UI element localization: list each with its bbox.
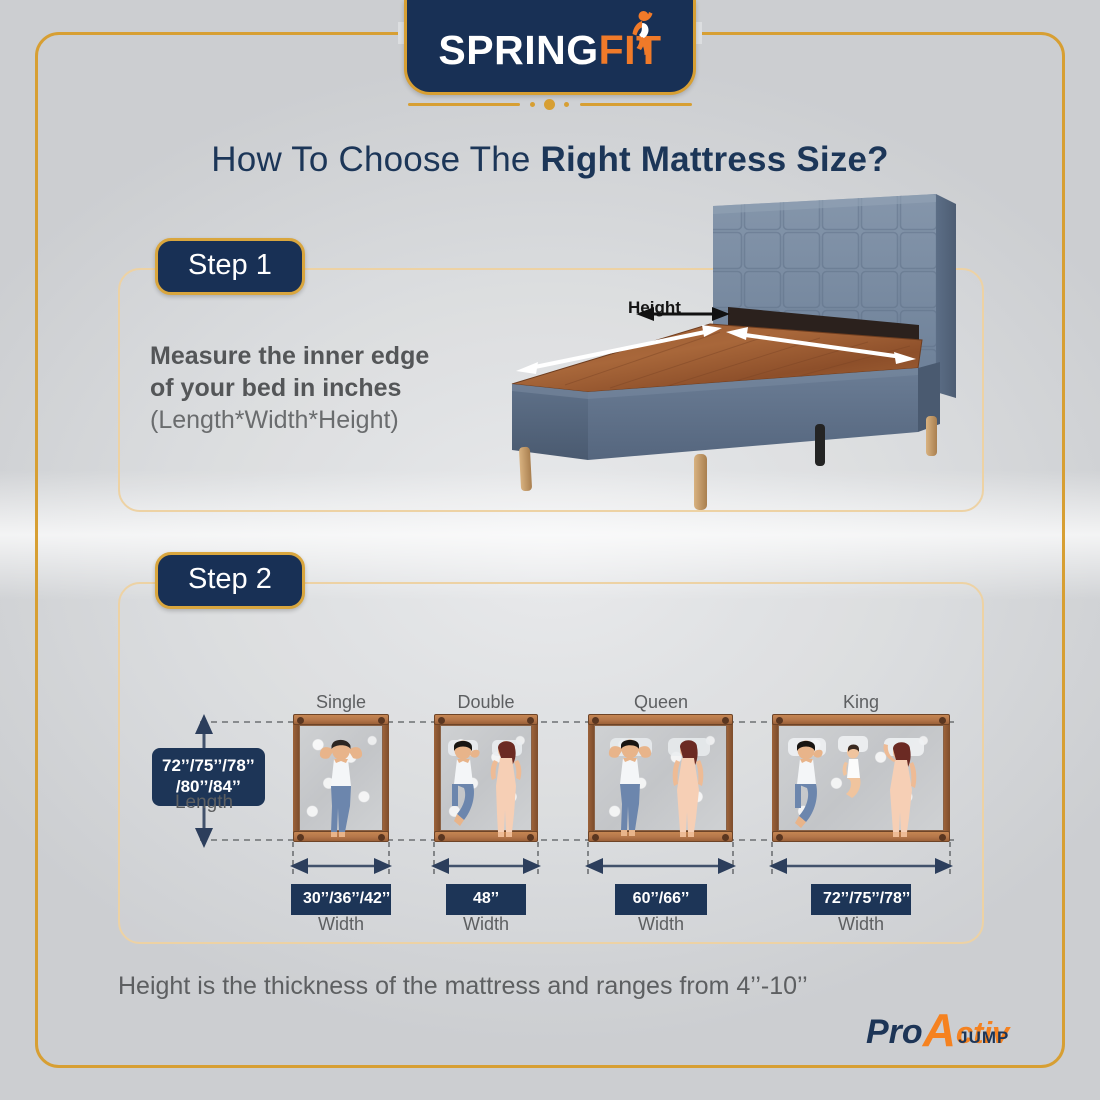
bed-diagram-king (772, 714, 950, 842)
person-man (795, 741, 823, 829)
measure-line-1: Measure the inner edge (150, 340, 480, 372)
bed-diagram-queen (588, 714, 733, 842)
width-caption-single: Width (271, 914, 411, 935)
step-1-instructions: Measure the inner edge of your bed in in… (150, 340, 480, 436)
person-man (609, 740, 651, 837)
bed-diagram-single (293, 714, 389, 842)
height-pointer-arrow (636, 307, 730, 321)
person-baby (843, 745, 861, 799)
measure-line-3: (Length*Width*Height) (150, 404, 480, 436)
width-badge-single: 30’’/36’’/42’’ (291, 884, 391, 915)
width-badge-double: 48’’ (446, 884, 526, 915)
proactiv-sub-brand-logo: ProActiv JUMP (866, 1004, 1009, 1050)
length-caption: Length (152, 792, 256, 814)
logo-spring-text: SPRING (438, 27, 598, 73)
proactiv-jump-text: JUMP (958, 1029, 1009, 1046)
proactiv-pro-text: Pro (866, 1013, 923, 1051)
brand-logo-plaque: SPRINGFIT (404, 0, 696, 95)
logo-decorative-rule (408, 98, 692, 110)
proactiv-a-text: A (923, 1004, 956, 1056)
size-title-double: Double (416, 692, 556, 713)
page-title-emphasis: Right Mattress Size? (540, 140, 888, 179)
bed-diagram-double (434, 714, 538, 842)
page-title-normal: How To Choose The (211, 140, 540, 179)
sleeper-figures-queen (588, 714, 733, 842)
step-2-badge: Step 2 (155, 552, 305, 609)
width-badge-king: 72’’/75’’/78’’ (811, 884, 911, 915)
sleeper-figures-double (434, 714, 538, 842)
size-title-queen: Queen (591, 692, 731, 713)
sleeper-figures-single (293, 714, 389, 842)
width-caption-double: Width (416, 914, 556, 935)
person-man (320, 740, 362, 837)
length-badge-line-1: 72’’/75’’/78’’ (162, 755, 255, 776)
step-1-badge: Step 1 (155, 238, 305, 295)
bed-illustration (470, 192, 990, 532)
size-title-single: Single (271, 692, 411, 713)
width-badge-queen: 60’’/66’’ (615, 884, 707, 915)
width-caption-queen: Width (591, 914, 731, 935)
person-man (452, 741, 480, 827)
page-title: How To Choose The Right Mattress Size? (0, 140, 1100, 180)
measure-line-2: of your bed in inches (150, 372, 480, 404)
footer-note: Height is the thickness of the mattress … (118, 972, 808, 1001)
jumping-person-icon (628, 10, 654, 58)
logo-fit-text: FIT (599, 27, 662, 73)
brand-logo-text: SPRINGFIT (438, 30, 661, 71)
size-title-king: King (791, 692, 931, 713)
width-caption-king: Width (791, 914, 931, 935)
person-woman (883, 742, 916, 837)
sleeper-figures-king (772, 714, 950, 842)
